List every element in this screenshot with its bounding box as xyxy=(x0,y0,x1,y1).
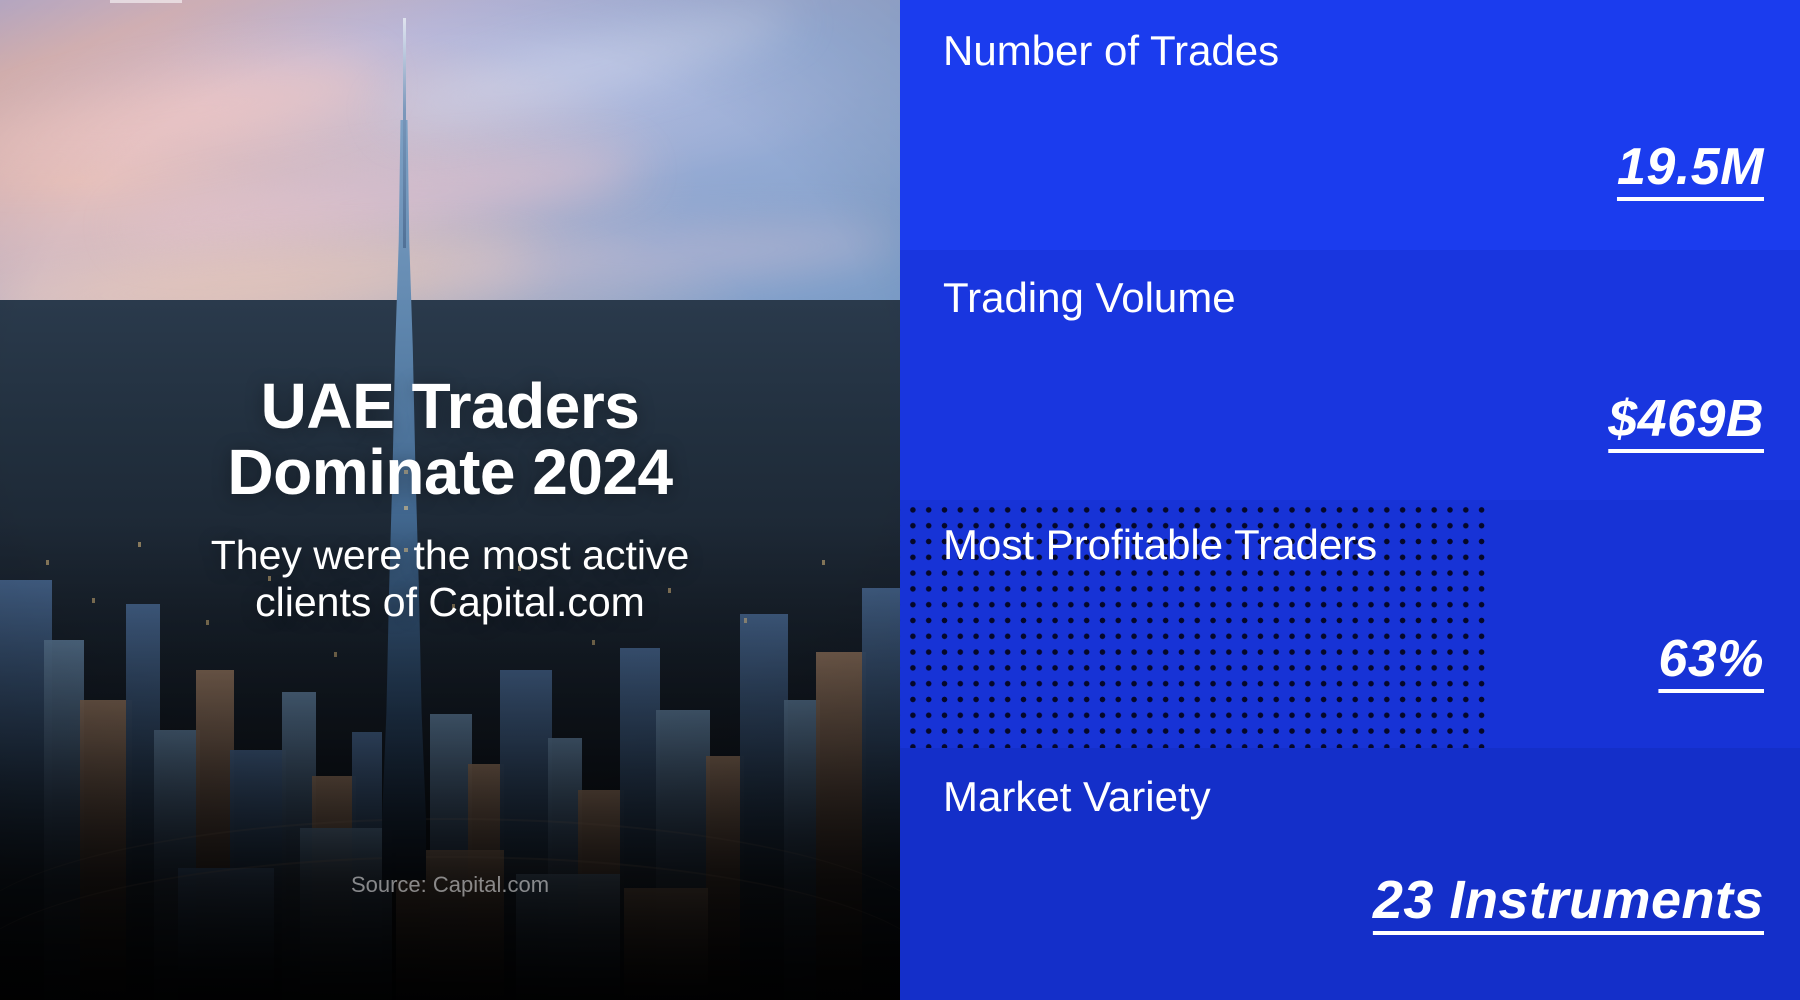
stat-value: 19.5M xyxy=(1617,141,1764,193)
stat-value: $469B xyxy=(1608,393,1764,445)
hero-image-panel: UAE Traders Dominate 2024 They were the … xyxy=(0,0,900,1000)
page-subtitle: They were the most active clients of Cap… xyxy=(150,532,750,625)
stat-label: Most Profitable Traders xyxy=(943,524,1377,566)
stat-label: Market Variety xyxy=(943,776,1211,818)
stat-panel-number-of-trades[interactable]: Number of Trades 19.5M xyxy=(900,0,1800,250)
stat-value: 63% xyxy=(1658,633,1764,685)
stats-panel-list: Number of Trades 19.5M Trading Volume $4… xyxy=(900,0,1800,1000)
source-attribution: Source: Capital.com xyxy=(0,872,900,898)
stat-panel-market-variety[interactable]: Market Variety 23 Instruments xyxy=(900,748,1800,1000)
page-title: UAE Traders Dominate 2024 xyxy=(140,374,760,506)
stat-label: Trading Volume xyxy=(943,277,1236,319)
stat-label: Number of Trades xyxy=(943,30,1279,72)
hero-text-block: UAE Traders Dominate 2024 They were the … xyxy=(0,0,900,1000)
stat-panel-trading-volume[interactable]: Trading Volume $469B xyxy=(900,250,1800,500)
stat-value: 23 Instruments xyxy=(1373,873,1764,927)
infographic-canvas: UAE Traders Dominate 2024 They were the … xyxy=(0,0,1800,1000)
stat-panel-most-profitable-traders[interactable]: Most Profitable Traders 63% xyxy=(900,500,1800,748)
